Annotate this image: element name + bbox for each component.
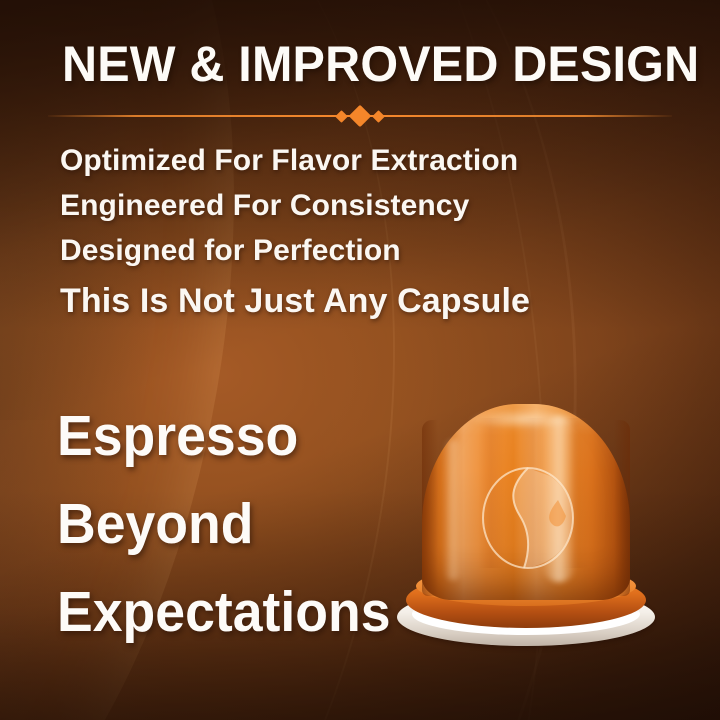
feature-item: Designed for Perfection bbox=[60, 228, 680, 273]
coffee-bean-icon bbox=[480, 466, 576, 570]
feature-list: Optimized For Flavor Extraction Engineer… bbox=[60, 138, 680, 326]
page-title: NEW & IMPROVED DESIGN bbox=[62, 38, 644, 90]
tagline-line: Beyond bbox=[57, 480, 414, 568]
product-capsule-image bbox=[392, 396, 660, 654]
feature-item: Engineered For Consistency bbox=[60, 183, 680, 228]
tagline-line: Expectations bbox=[57, 568, 414, 656]
feature-item: Optimized For Flavor Extraction bbox=[60, 138, 680, 183]
feature-item-emphasis: This Is Not Just Any Capsule bbox=[60, 273, 680, 326]
promo-poster: NEW & IMPROVED DESIGN Optimized For Flav… bbox=[0, 0, 720, 720]
diamond-icon-left bbox=[335, 110, 348, 123]
capsule-highlight-top bbox=[452, 406, 598, 432]
tagline: Espresso Beyond Expectations bbox=[57, 392, 437, 656]
divider bbox=[48, 106, 672, 126]
tagline-line: Espresso bbox=[57, 392, 414, 480]
capsule-highlight-left bbox=[444, 440, 462, 580]
diamond-icon-center bbox=[349, 105, 372, 128]
diamond-icon-right bbox=[372, 110, 385, 123]
